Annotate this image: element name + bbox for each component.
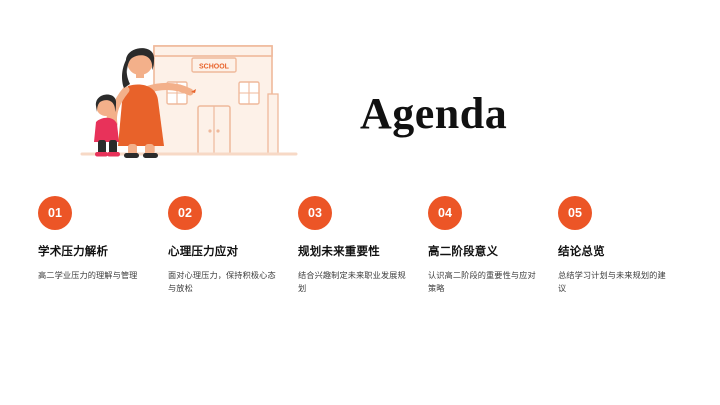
agenda-item-2-title: 心理压力应对: [168, 245, 280, 260]
agenda-item-5[interactable]: 05 结论总览 总结学习计划与未来规划的建议: [558, 196, 688, 296]
agenda-item-1-description: 高二学业压力的理解与管理: [38, 269, 150, 282]
agenda-item-2-number: 02: [168, 196, 202, 230]
agenda-item-4[interactable]: 04 高二阶段意义 认识高二阶段的重要性与应对策略: [428, 196, 558, 296]
agenda-item-5-number: 05: [558, 196, 592, 230]
svg-text:SCHOOL: SCHOOL: [199, 64, 230, 71]
agenda-item-4-description: 认识高二阶段的重要性与应对策略: [428, 269, 540, 296]
agenda-item-1-number: 01: [38, 196, 72, 230]
agenda-item-3-number: 03: [298, 196, 332, 230]
agenda-item-3-description: 结合兴趣制定未来职业发展规划: [298, 269, 410, 296]
agenda-item-2[interactable]: 02 心理压力应对 面对心理压力，保持积极心态与放松: [168, 196, 298, 296]
agenda-item-5-description: 总结学习计划与未来规划的建议: [558, 269, 670, 296]
agenda-item-4-number: 04: [428, 196, 462, 230]
agenda-item-3[interactable]: 03 规划未来重要性 结合兴趣制定未来职业发展规划: [298, 196, 428, 296]
agenda-item-3-title: 规划未来重要性: [298, 245, 410, 260]
agenda-item-1-title: 学术压力解析: [38, 245, 150, 260]
agenda-item-4-title: 高二阶段意义: [428, 245, 540, 260]
agenda-item-2-description: 面对心理压力，保持积极心态与放松: [168, 269, 280, 296]
agenda-item-1[interactable]: 01 学术压力解析 高二学业压力的理解与管理: [38, 196, 168, 296]
page-title: Agenda: [360, 88, 640, 139]
agenda-items-row: 01 学术压力解析 高二学业压力的理解与管理 02 心理压力应对 面对心理压力，…: [38, 196, 688, 296]
agenda-item-5-title: 结论总览: [558, 245, 670, 260]
school-building-icon: SCHOOL: [154, 46, 278, 154]
agenda-illustration: SCHOOL: [72, 28, 312, 168]
